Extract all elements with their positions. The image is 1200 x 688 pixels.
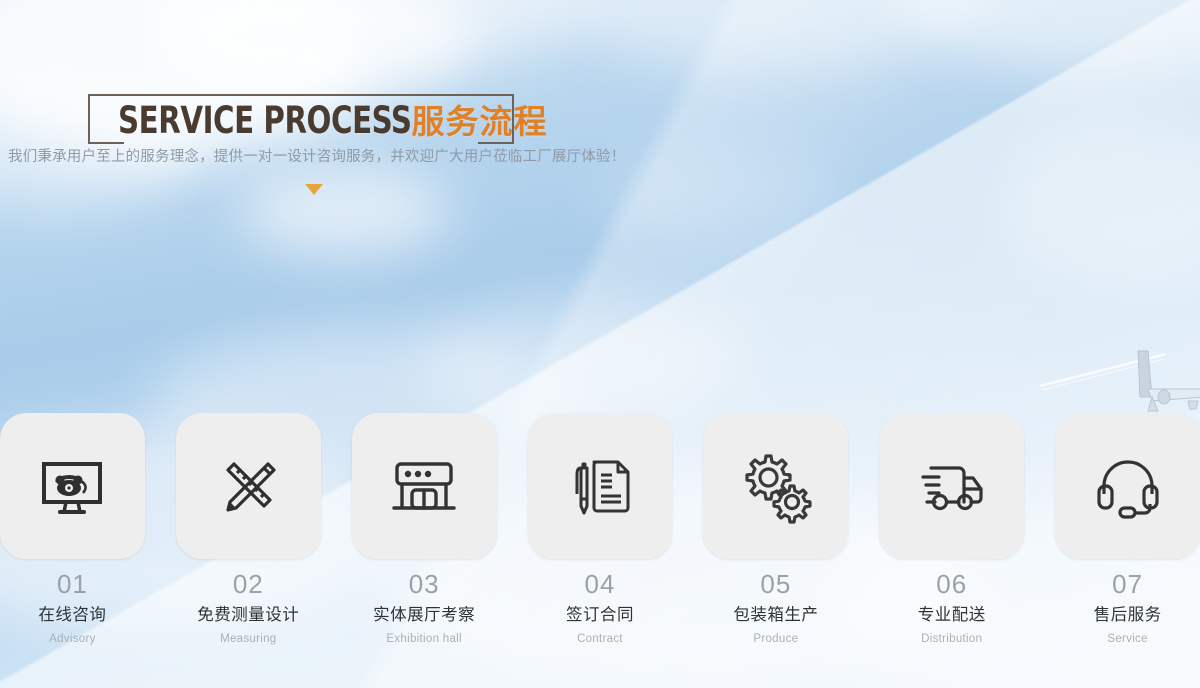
process-label-02: 02 免费测量设计 Measuring	[176, 568, 321, 688]
chevron-down-icon	[305, 184, 323, 195]
step-title-en: Service	[1055, 630, 1200, 648]
step-title-en: Exhibition hall	[352, 630, 497, 648]
step-number: 07	[1055, 568, 1200, 600]
step-title-cn: 签订合同	[528, 602, 673, 628]
step-number: 01	[0, 568, 145, 600]
process-label-01: 01 在线咨询 Advisory	[0, 568, 145, 688]
storefront-icon	[388, 450, 460, 522]
pen-document-icon	[564, 450, 636, 522]
process-label-row: 01 在线咨询 Advisory 02 免费测量设计 Measuring 03 …	[0, 568, 1200, 688]
process-card-07[interactable]	[1055, 413, 1200, 559]
step-title-cn: 包装箱生产	[703, 602, 848, 628]
process-label-03: 03 实体展厅考察 Exhibition hall	[352, 568, 497, 688]
step-title-cn: 专业配送	[879, 602, 1024, 628]
step-title-cn: 在线咨询	[0, 602, 145, 628]
headset-icon	[1091, 450, 1165, 522]
step-title-en: Advisory	[0, 630, 145, 648]
step-number: 03	[352, 568, 497, 600]
page-title: SERVICE PROCESS服务流程	[118, 100, 548, 143]
page-stage: SERVICE PROCESS服务流程 我们秉承用户至上的服务理念，提供一对一设…	[0, 0, 1200, 688]
step-number: 05	[703, 568, 848, 600]
step-title-en: Measuring	[176, 630, 321, 648]
process-card-02[interactable]	[176, 413, 321, 559]
step-title-en: Distribution	[879, 630, 1024, 648]
monitor-phone-icon	[36, 450, 108, 522]
process-card-06[interactable]	[879, 413, 1024, 559]
process-card-03[interactable]	[352, 413, 497, 559]
cloud-decoration	[420, 300, 740, 420]
process-label-05: 05 包装箱生产 Produce	[703, 568, 848, 688]
step-number: 06	[879, 568, 1024, 600]
process-label-04: 04 签订合同 Contract	[528, 568, 673, 688]
process-label-07: 07 售后服务 Service	[1055, 568, 1200, 688]
page-subtitle: 我们秉承用户至上的服务理念，提供一对一设计咨询服务，并欢迎广大用户莅临工厂展厅体…	[8, 146, 625, 168]
step-title-en: Contract	[528, 630, 673, 648]
step-title-cn: 售后服务	[1055, 602, 1200, 628]
step-title-en: Produce	[703, 630, 848, 648]
process-card-row	[0, 413, 1200, 559]
step-number: 04	[528, 568, 673, 600]
ruler-pencil-icon	[212, 450, 284, 522]
step-number: 02	[176, 568, 321, 600]
gears-icon	[738, 448, 814, 524]
step-title-cn: 免费测量设计	[176, 602, 321, 628]
process-card-04[interactable]	[528, 413, 673, 559]
page-title-chinese: 服务流程	[412, 103, 548, 140]
delivery-truck-icon	[913, 450, 991, 522]
airplane-decoration	[1118, 345, 1200, 415]
page-title-english: SERVICE PROCESS	[118, 100, 412, 142]
step-title-cn: 实体展厅考察	[352, 602, 497, 628]
process-card-01[interactable]	[0, 413, 145, 559]
process-label-06: 06 专业配送 Distribution	[879, 568, 1024, 688]
process-card-05[interactable]	[703, 413, 848, 559]
